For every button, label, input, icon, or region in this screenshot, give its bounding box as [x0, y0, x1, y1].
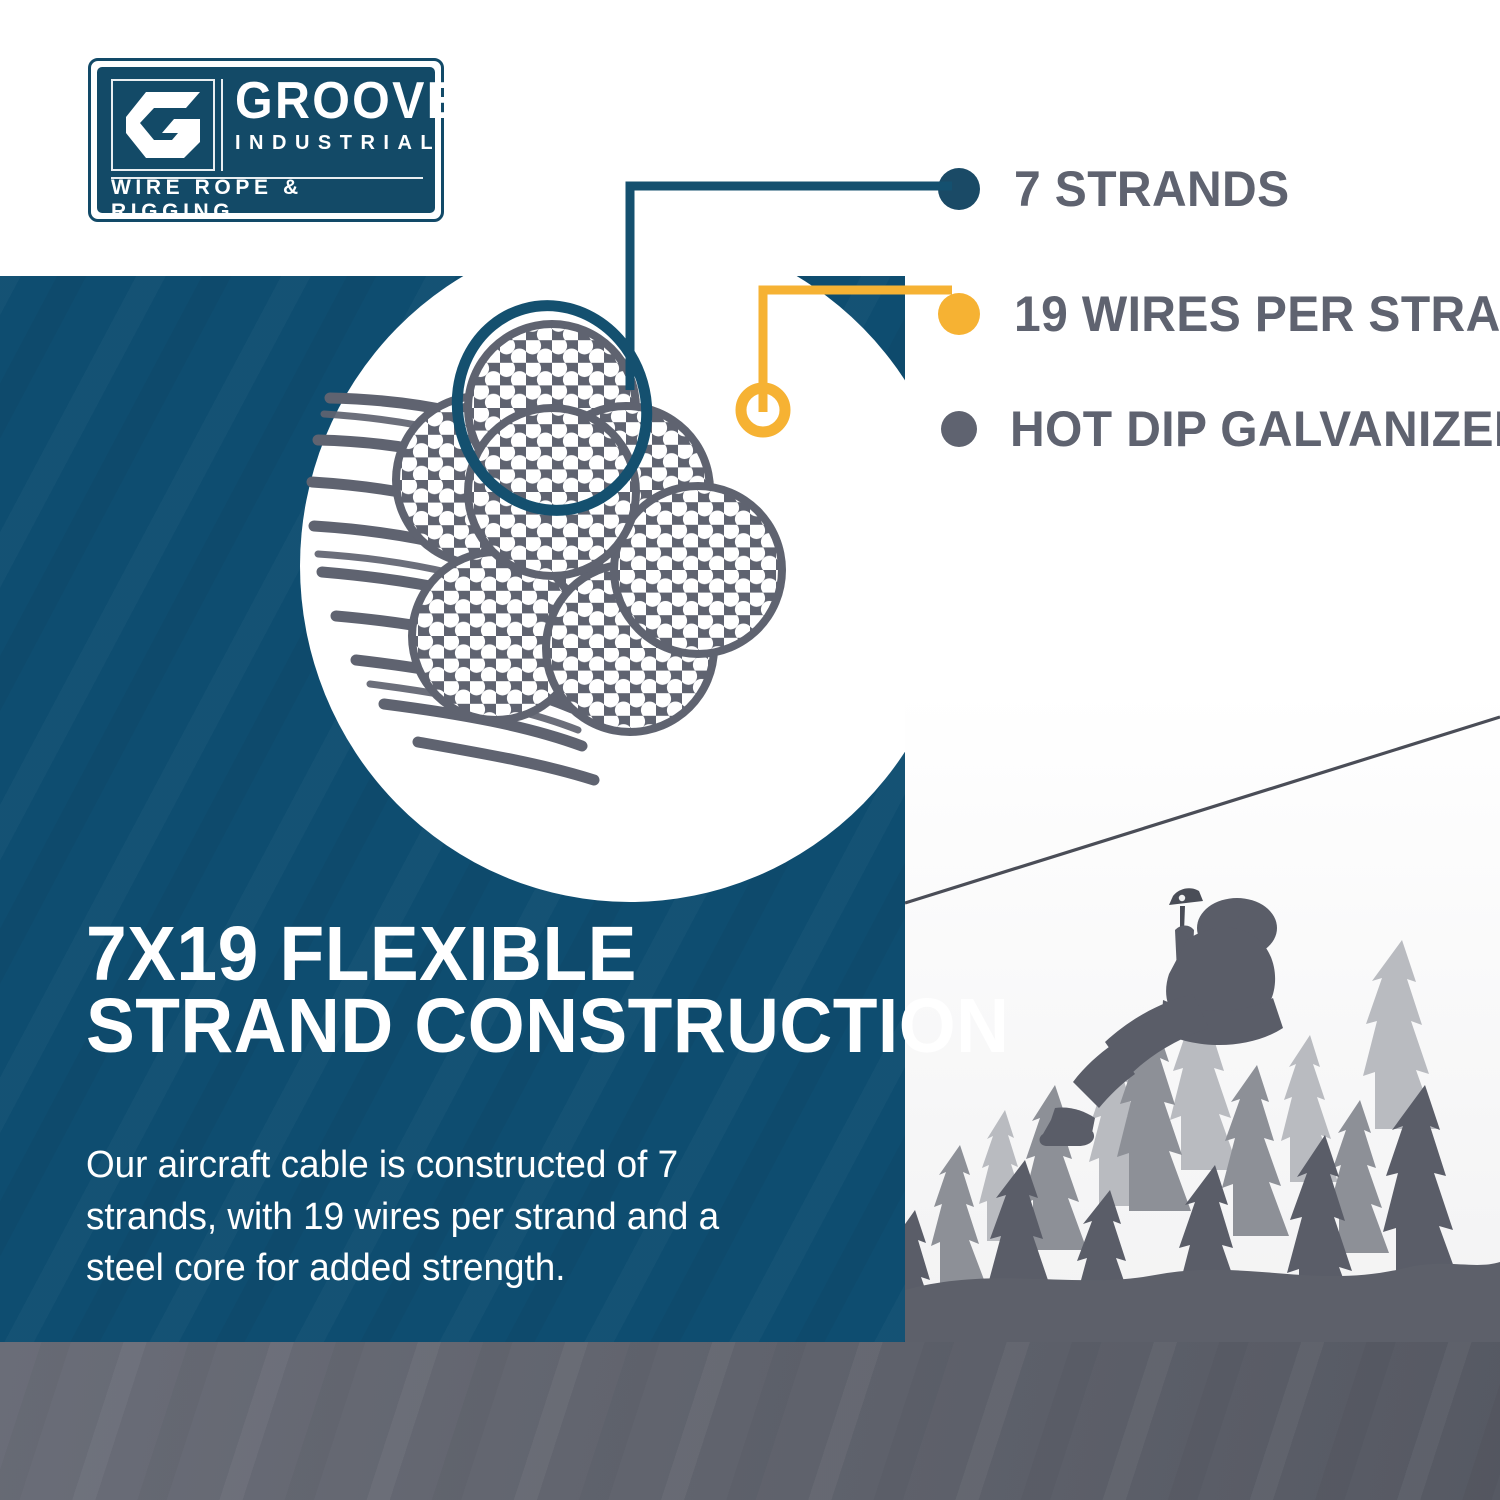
page-title: 7X19 FLEXIBLE STRAND CONSTRUCTION	[86, 918, 837, 1063]
logo-divider	[221, 79, 223, 171]
logo-brand-subtitle: INDUSTRIAL	[235, 132, 423, 155]
callout-leader-lines	[600, 140, 980, 470]
callout-19-wires[interactable]: 19 WIRES PER STRAND	[938, 285, 1500, 343]
footer-texture	[0, 1342, 1500, 1500]
logo-wordmark: GROOVE INDUSTRIAL	[235, 75, 423, 155]
logo-inner-panel: GROOVE INDUSTRIAL WIRE ROPE & RIGGING	[97, 67, 435, 213]
leader-line-wires	[763, 290, 952, 412]
callout-7-strands[interactable]: 7 STRANDS	[938, 160, 1301, 218]
logo-monogram-g-icon	[111, 79, 215, 171]
headline-line-1: 7X19 FLEXIBLE	[86, 918, 837, 990]
callout-label: HOT DIP GALVANIZED	[1010, 400, 1500, 458]
footer-band	[0, 1342, 1500, 1500]
body-line-1: Our aircraft cable is constructed of 7	[86, 1140, 765, 1192]
description-text: Our aircraft cable is constructed of 7 s…	[86, 1140, 765, 1295]
body-line-3: steel core for added strength.	[86, 1243, 765, 1295]
brand-logo: GROOVE INDUSTRIAL WIRE ROPE & RIGGING	[88, 58, 444, 222]
logo-tagline: WIRE ROPE & RIGGING	[111, 185, 423, 215]
headline-line-2: STRAND CONSTRUCTION	[86, 990, 837, 1062]
infographic-canvas: GROOVE INDUSTRIAL WIRE ROPE & RIGGING	[0, 0, 1500, 1500]
callout-label: 19 WIRES PER STRAND	[1014, 285, 1500, 343]
body-line-2: strands, with 19 wires per strand and a	[86, 1192, 765, 1244]
callout-label: 7 STRANDS	[1014, 160, 1290, 218]
logo-brand-name: GROOVE	[235, 75, 410, 127]
callout-hot-dip-galvanized[interactable]: HOT DIP GALVANIZED	[938, 400, 1500, 458]
